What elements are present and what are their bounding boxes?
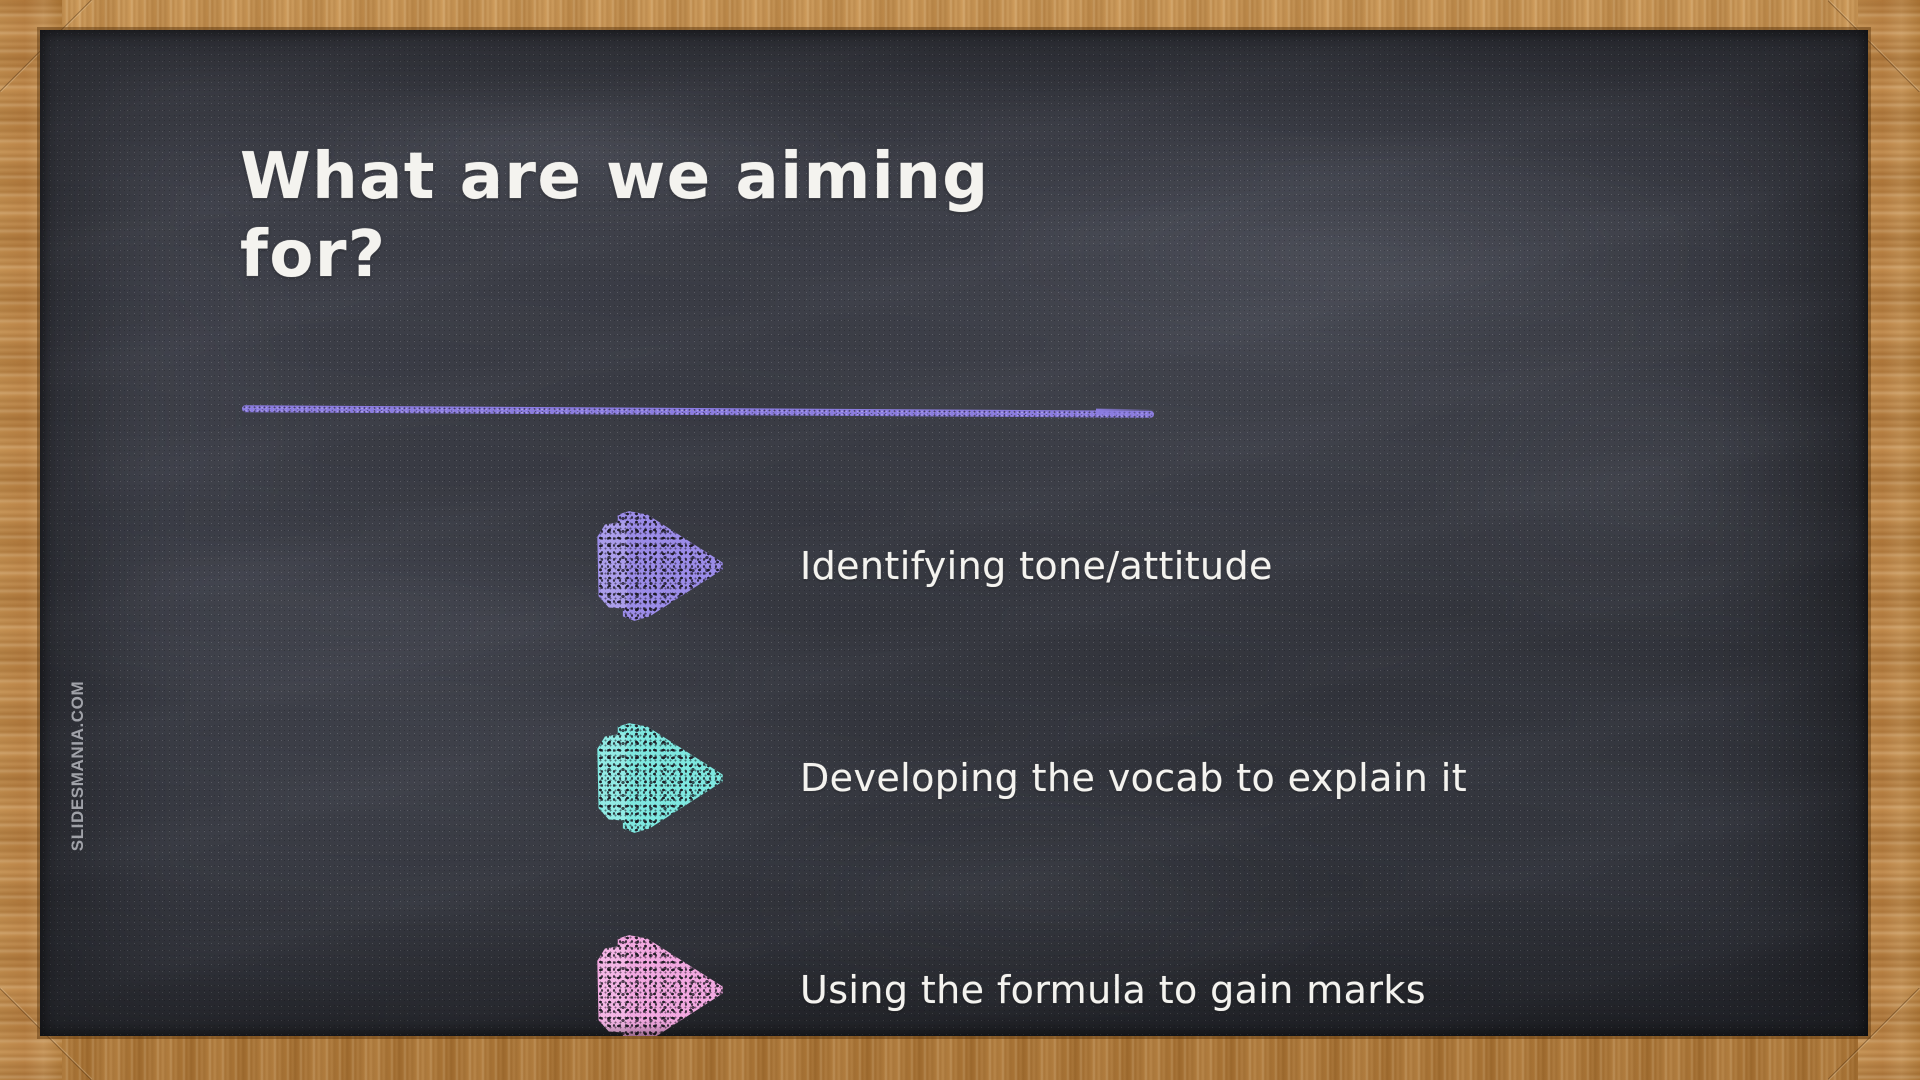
bullet-list: Identifying tone/attitude Developing the… — [40, 460, 1868, 1036]
chalkboard-slide: SLIDESMANIA.COM What are we aiming for? … — [0, 0, 1920, 1080]
chalk-divider-taper — [1096, 409, 1156, 416]
page-title-line-2: for? — [240, 216, 1140, 294]
chalk-arrow-icon — [596, 934, 724, 1036]
list-item: Using the formula to gain marks — [40, 884, 1868, 1036]
chalk-divider-stroke — [242, 405, 1154, 418]
chalk-arrow-icon — [596, 722, 724, 834]
list-item: Identifying tone/attitude — [40, 460, 1868, 672]
list-item-label: Developing the vocab to explain it — [800, 756, 1467, 800]
list-item-label: Identifying tone/attitude — [800, 544, 1273, 588]
list-item-label: Using the formula to gain marks — [800, 968, 1426, 1012]
chalkboard-surface: SLIDESMANIA.COM What are we aiming for? … — [40, 30, 1868, 1036]
chalk-divider — [242, 404, 1154, 418]
slide-content: What are we aiming for? Identifying tone… — [40, 30, 1868, 1036]
list-item: Developing the vocab to explain it — [40, 672, 1868, 884]
page-title-line-1: What are we aiming — [240, 138, 1140, 216]
page-title: What are we aiming for? — [240, 138, 1140, 294]
chalk-arrow-icon — [596, 510, 724, 622]
